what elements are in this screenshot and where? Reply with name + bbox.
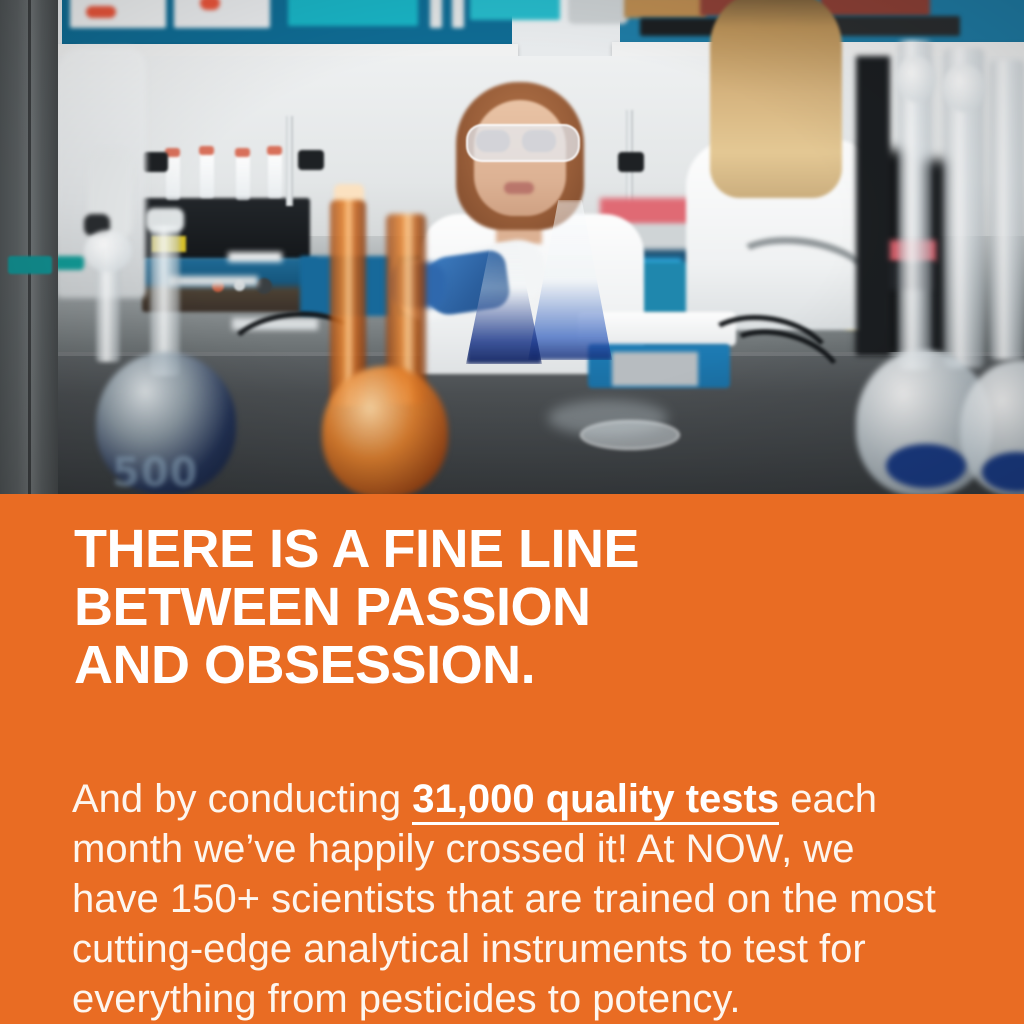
sample-tube-cap [267,146,282,155]
shelf-box-label [200,0,220,10]
pipette-bulb [84,230,132,272]
rod-clamp [298,150,324,170]
teal-marker [8,256,52,274]
shelf-reagent-tray [470,0,560,20]
body-copy: And by conducting 31,000 quality tests e… [72,774,952,1024]
balance-display [612,352,698,386]
lab-photo: 500 [0,0,1024,494]
headline-line-2: BETWEEN PASSION [74,578,974,636]
sample-tube-cap [235,148,250,157]
instrument-strip [228,252,282,262]
blonde-hair [710,0,842,198]
sample-tube [200,152,214,198]
support-rod [286,116,293,206]
shelf-box-label [86,6,116,18]
flask-blue-liquid [886,444,966,488]
promo-poster: 500 THERE IS A FINE LINE BETWEEN PASSION… [0,0,1024,1024]
bench-handle [168,276,258,286]
sample-tube [166,154,180,200]
volumetric-flask-stopper [146,208,184,232]
sample-tube [268,152,282,198]
instrument-knob [256,278,272,294]
shelf-box [174,0,270,28]
highlight-quality-tests: 31,000 quality tests [412,777,779,825]
pipette-tip-teal [54,256,84,270]
glass-stopper [896,56,936,102]
shelf-box [70,0,166,28]
shelf-bottle [452,0,464,28]
page-title: THERE IS A FINE LINE BETWEEN PASSION AND… [74,520,974,694]
safety-goggles-icon [466,124,580,162]
dark-column [856,56,890,356]
body-before-bold: And by conducting [72,777,412,821]
glass-dish [548,400,668,436]
sample-tube-cap [199,146,214,155]
amber-volumetric-flask [322,366,448,494]
tall-glass-column [990,60,1024,360]
headline-line-1: THERE IS A FINE LINE [74,520,974,578]
shelf-reagent-tray [288,0,418,26]
bench-frame-column [0,0,58,494]
glass-stopper [942,64,986,112]
scientist-blonde-right [690,0,870,320]
mouth [504,182,534,194]
shelf-jar [568,0,628,24]
headline-line-3: AND OBSESSION. [74,636,974,694]
sample-tube [236,154,250,200]
shelf-bottle [430,0,442,28]
orange-text-panel: THERE IS A FINE LINE BETWEEN PASSION AND… [0,494,1024,1024]
flask-volume-label: 500 [112,450,199,494]
